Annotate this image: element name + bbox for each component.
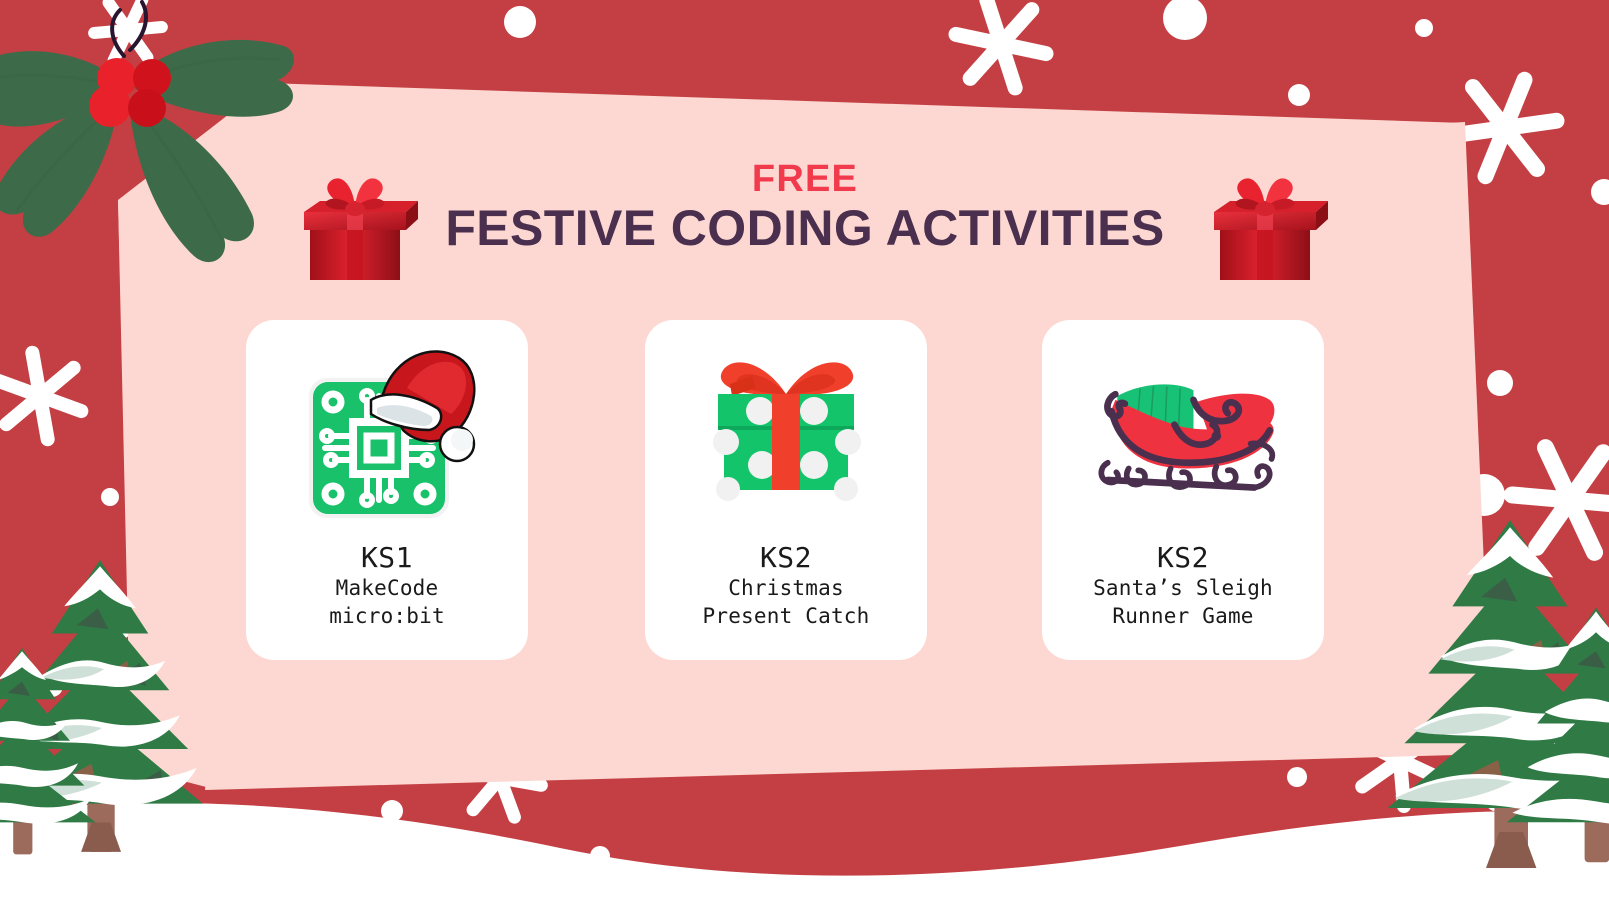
holly-branch-icon [0, 2, 294, 262]
poster-canvas: FREE FESTIVE CODING ACTIVITIES [0, 0, 1609, 905]
foreground-decoration [0, 0, 1609, 905]
